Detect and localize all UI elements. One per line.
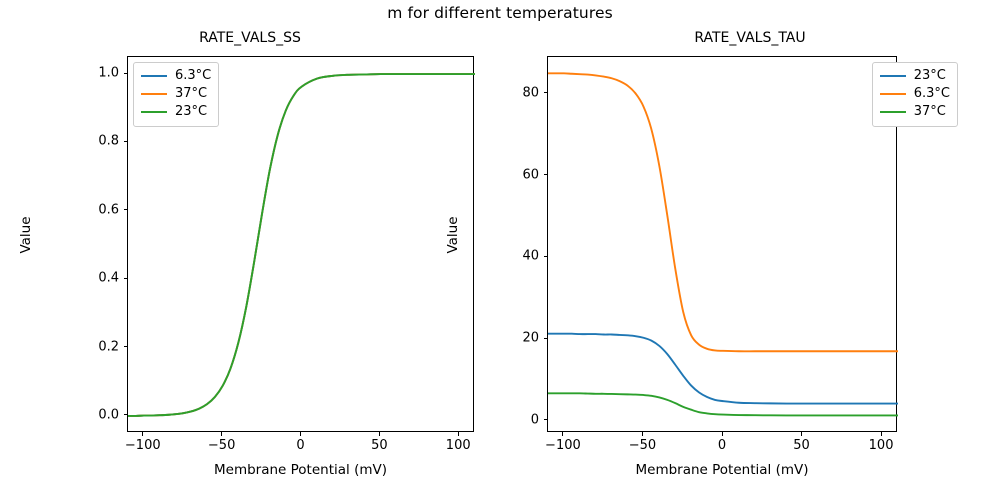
y-tick-label: 0.4 (67, 271, 119, 286)
y-tick-label: 60 (487, 167, 539, 182)
y-tickmark (124, 73, 128, 74)
y-tick-label: 80 (487, 85, 539, 100)
y-tickmark (124, 209, 128, 210)
x-tick-label: 50 (793, 438, 810, 453)
y-tickmark (544, 419, 548, 420)
legend-right[interactable]: 23°C6.3°C37°C (872, 62, 958, 127)
x-tick-label: 0 (296, 438, 304, 453)
x-tick-label: 0 (718, 438, 726, 453)
legend-left[interactable]: 6.3°C37°C23°C (133, 62, 219, 127)
x-tickmark (722, 432, 723, 436)
legend-color-swatch (141, 93, 167, 95)
y-tick-label: 20 (487, 331, 539, 346)
y-tickmark (124, 278, 128, 279)
x-tick-label: −50 (208, 438, 235, 453)
x-tickmark (379, 432, 380, 436)
y-tickmark (124, 141, 128, 142)
matplotlib-figure: m for different temperatures RATE_VALS_S… (0, 0, 1000, 500)
x-tickmark (881, 432, 882, 436)
y-tickmark (544, 338, 548, 339)
y-tick-label: 40 (487, 249, 539, 264)
legend-item[interactable]: 37°C (880, 103, 950, 121)
legend-color-swatch (141, 75, 167, 77)
x-tick-label: −100 (545, 438, 581, 453)
x-tickmark (642, 432, 643, 436)
curves-right (548, 57, 898, 433)
x-tickmark (562, 432, 563, 436)
x-tickmark (300, 432, 301, 436)
legend-item[interactable]: 37°C (141, 85, 211, 103)
ylabel-right: Value (445, 175, 461, 295)
legend-label: 23°C (175, 103, 207, 121)
x-tickmark (142, 432, 143, 436)
legend-label: 6.3°C (914, 85, 950, 103)
y-tick-label: 0.6 (67, 202, 119, 217)
y-tick-label: 0.8 (67, 134, 119, 149)
y-tickmark (544, 92, 548, 93)
x-tickmark (458, 432, 459, 436)
y-tickmark (124, 414, 128, 415)
subplot-title-right: RATE_VALS_TAU (500, 30, 1000, 46)
ylabel-left: Value (18, 175, 34, 295)
legend-color-swatch (141, 111, 167, 113)
y-tick-label: 0.0 (67, 407, 119, 422)
legend-item[interactable]: 6.3°C (880, 85, 950, 103)
y-tickmark (124, 346, 128, 347)
subplot-rate-vals-ss: RATE_VALS_SS −100−500501000.00.20.40.60.… (0, 0, 500, 500)
x-tick-label: 100 (869, 438, 894, 453)
line-series (548, 73, 898, 351)
y-tick-label: 0.2 (67, 339, 119, 354)
x-tickmark (801, 432, 802, 436)
legend-color-swatch (880, 75, 906, 77)
y-tick-label: 0 (487, 412, 539, 427)
legend-color-swatch (880, 111, 906, 113)
x-tick-label: 50 (371, 438, 388, 453)
legend-item[interactable]: 6.3°C (141, 67, 211, 85)
legend-label: 6.3°C (175, 67, 211, 85)
y-tick-label: 1.0 (67, 66, 119, 81)
y-tickmark (544, 256, 548, 257)
subplot-rate-vals-tau: RATE_VALS_TAU −100−50050100020406080 Mem… (500, 0, 1000, 500)
legend-item[interactable]: 23°C (141, 103, 211, 121)
x-tick-label: 100 (446, 438, 471, 453)
xlabel-right: Membrane Potential (mV) (547, 462, 897, 478)
legend-label: 23°C (914, 67, 946, 85)
legend-label: 37°C (175, 85, 207, 103)
y-tickmark (544, 174, 548, 175)
xlabel-left: Membrane Potential (mV) (127, 462, 474, 478)
legend-color-swatch (880, 93, 906, 95)
x-tickmark (221, 432, 222, 436)
plot-area-right (547, 56, 897, 432)
x-tick-label: −50 (629, 438, 656, 453)
legend-item[interactable]: 23°C (880, 67, 950, 85)
subplot-title-left: RATE_VALS_SS (0, 30, 500, 46)
legend-label: 37°C (914, 103, 946, 121)
x-tick-label: −100 (125, 438, 161, 453)
